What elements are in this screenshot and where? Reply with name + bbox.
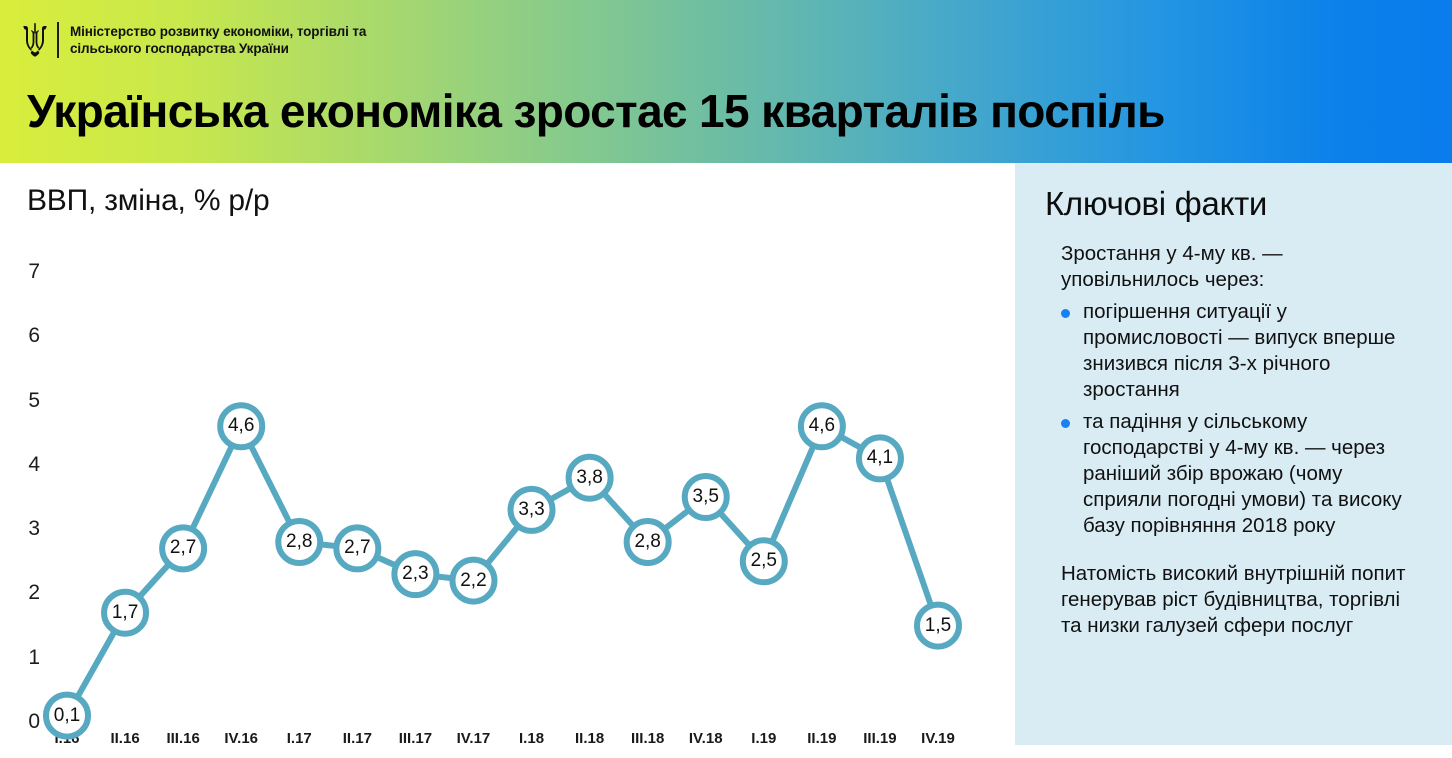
- bullet-dot-icon: [1061, 309, 1070, 318]
- header-banner: Міністерство розвитку економіки, торгівл…: [0, 0, 1452, 163]
- chart-panel: ВВП, зміна, % р/р 01234567 I.16II.16III.…: [0, 163, 1015, 758]
- gdp-line-chart: 01234567 I.16II.16III.16IV.16I.17II.17II…: [0, 163, 1015, 758]
- key-fact-item: та падіння у сільському господарстві у 4…: [1045, 409, 1426, 539]
- data-point-marker[interactable]: [220, 405, 262, 447]
- page-title: Українська економіка зростає 15 кварталі…: [27, 84, 1165, 138]
- ministry-name: Міністерство розвитку економіки, торгівл…: [70, 22, 366, 57]
- data-point-marker[interactable]: [511, 489, 553, 531]
- gdp-markers: [46, 405, 959, 736]
- gdp-series: [0, 163, 1015, 758]
- branding-divider: [57, 22, 59, 58]
- data-point-marker[interactable]: [394, 553, 436, 595]
- ukraine-trident-icon: [22, 22, 48, 58]
- key-fact-text: погіршення ситуації у промисловості — ви…: [1083, 299, 1426, 403]
- data-point-marker[interactable]: [336, 527, 378, 569]
- data-point-marker[interactable]: [685, 476, 727, 518]
- data-point-marker[interactable]: [627, 521, 669, 563]
- ministry-branding: Міністерство розвитку економіки, торгівл…: [22, 22, 366, 58]
- data-point-marker[interactable]: [743, 540, 785, 582]
- data-point-marker[interactable]: [162, 527, 204, 569]
- data-point-marker[interactable]: [104, 592, 146, 634]
- bullet-dot-icon: [1061, 419, 1070, 428]
- key-facts-bullet-list: погіршення ситуації у промисловості — ви…: [1045, 299, 1426, 539]
- key-fact-item: погіршення ситуації у промисловості — ви…: [1045, 299, 1426, 403]
- data-point-marker[interactable]: [46, 695, 88, 737]
- data-point-marker[interactable]: [569, 457, 611, 499]
- key-facts-outro: Натомість високий внутрішній попит генер…: [1045, 561, 1426, 639]
- key-facts-panel: Ключові факти Зростання у 4-му кв. — упо…: [1015, 163, 1452, 745]
- key-facts-intro: Зростання у 4-му кв. — уповільнилось чер…: [1045, 241, 1426, 293]
- data-point-marker[interactable]: [859, 437, 901, 479]
- gdp-line: [67, 426, 938, 715]
- data-point-marker[interactable]: [452, 560, 494, 602]
- key-facts-title: Ключові факти: [1045, 185, 1426, 223]
- data-point-marker[interactable]: [917, 605, 959, 647]
- data-point-marker[interactable]: [278, 521, 320, 563]
- data-point-marker[interactable]: [801, 405, 843, 447]
- key-fact-text: та падіння у сільському господарстві у 4…: [1083, 409, 1426, 539]
